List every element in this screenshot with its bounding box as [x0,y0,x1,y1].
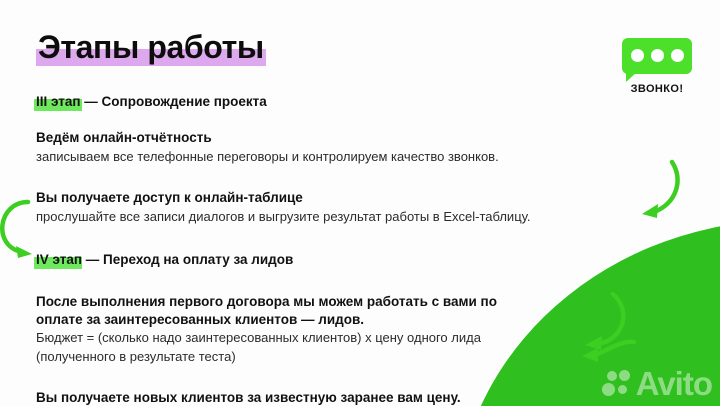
stage-3-heading: III этап — Сопровождение проекта [36,94,267,111]
stage-3-item-2: Вы получаете доступ к онлайн-таблице про… [36,189,636,225]
stage-3-item-1: Ведём онлайн-отчётность записываем все т… [36,129,636,165]
avito-wordmark: Avito [636,367,712,400]
page-title: Этапы работы [36,31,266,63]
stage-4-heading: IV этап — Переход на оплату за лидов [36,252,293,269]
curved-arrow-icon [576,338,638,366]
logo: ЗВОНКО! [622,38,698,95]
stage-4-item-1: После выполнения первого договора мы мож… [36,293,636,365]
slide-body: III этап — Сопровождение проекта Ведём о… [36,93,636,406]
page-title-wrap: Этапы работы [36,31,266,63]
bubble-dots-icon [631,49,684,62]
curved-arrow-icon [628,160,688,224]
speech-bubble-icon [622,38,692,74]
stage-4-item-2: Вы получаете новых клиентов за известную… [36,389,636,406]
curved-arrow-icon [0,196,44,258]
slide-canvas: Avito ЗВОНКО! Этапы работы III этап — Со… [0,0,720,406]
